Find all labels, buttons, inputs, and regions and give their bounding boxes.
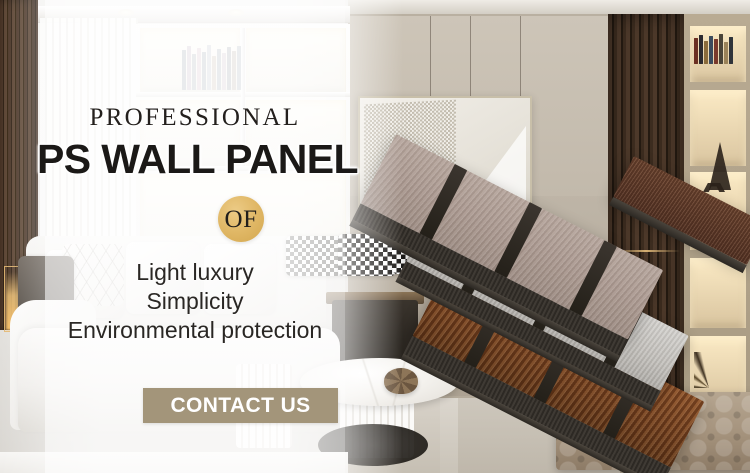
promo-banner: PROFESSIONAL PS WALL PANEL OF Light luxu… <box>0 0 750 473</box>
scrim-fade-left <box>0 0 45 473</box>
kicker-text: PROFESSIONAL <box>45 104 345 132</box>
product-panel-stack <box>424 56 750 426</box>
contact-us-button[interactable]: CONTACT US <box>143 388 338 423</box>
feature-list: Light luxury Simplicity Environmental pr… <box>35 258 355 345</box>
feature-item: Light luxury <box>35 258 355 287</box>
of-badge-label: OF <box>225 207 258 232</box>
page-title: PS WALL PANEL <box>37 136 353 183</box>
contact-us-label: CONTACT US <box>170 394 310 418</box>
banner-content: PROFESSIONAL PS WALL PANEL OF Light luxu… <box>45 0 345 473</box>
feature-item: Environmental protection <box>35 316 355 345</box>
of-badge: OF <box>218 196 264 242</box>
ceiling-cornice-right <box>348 0 750 14</box>
scrim-fade-right <box>345 0 403 473</box>
feature-item: Simplicity <box>35 287 355 316</box>
